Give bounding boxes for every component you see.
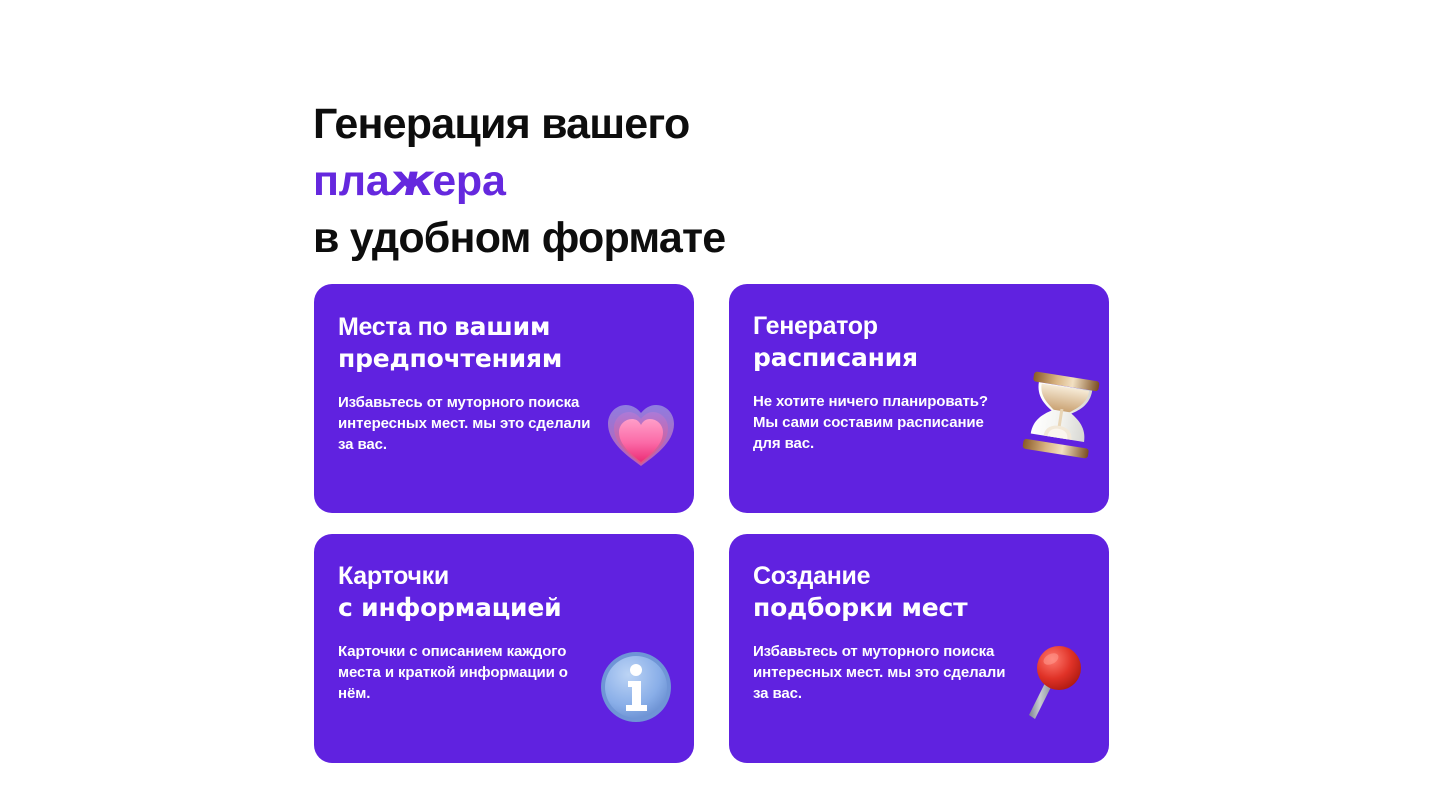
card-title: Создание подборки мест [753,561,1085,623]
card-title-line-1-plain: Места по [338,313,454,341]
card-title-line-1: Создание [753,561,1085,592]
card-title-line-1: Карточки [338,561,670,592]
page-title: Генерация вашего плажера в удобном форма… [313,96,933,267]
card-title-line-2: предпочтениям [338,343,670,374]
headline-accent-part-a: пла [313,157,390,205]
feature-card-collection[interactable]: Создание подборки мест Избавьтесь от мут… [729,534,1109,763]
card-title: Места по вашим предпочтениям [338,311,670,374]
headline-swash-letter: ж [389,153,434,210]
card-body: Карточки с описанием каждого места и кра… [338,641,593,704]
hourglass-icon [1021,369,1101,461]
feature-card-schedule[interactable]: Генератор расписания Не хотите ничего пл… [729,284,1109,513]
card-title-line-1: Места по вашим [338,311,670,343]
round-pushpin-icon [1019,643,1085,727]
feature-card-info-cards[interactable]: Карточки с информацией Карточки с описан… [314,534,694,763]
headline-line-3: в удобном формате [313,210,933,267]
headline-accent-part-b: ера [432,157,506,205]
information-icon [598,649,674,725]
growing-heart-icon [604,395,678,469]
slide-root: Генерация вашего плажера в удобном форма… [0,0,1440,800]
headline-line-1: Генерация вашего [313,96,933,153]
card-title-line-2: расписания [753,342,1085,373]
card-title: Генератор расписания [753,311,1085,373]
card-title: Карточки с информацией [338,561,670,623]
card-body: Избавьтесь от муторного поиска интересны… [753,641,1008,704]
feature-card-grid: Места по вашим предпочтениям Избавьтесь … [314,284,1109,763]
card-title-line-2: с информацией [338,592,670,623]
card-body: Не хотите ничего планировать? Мы сами со… [753,391,1008,454]
feature-card-places[interactable]: Места по вашим предпочтениям Избавьтесь … [314,284,694,513]
card-title-line-1: Генератор [753,311,1085,342]
card-title-line-2: подборки мест [753,592,1085,623]
card-title-line-1-fancy: вашим [454,312,550,341]
headline-line-2: плажера [313,153,933,210]
card-body: Избавьтесь от муторного поиска интересны… [338,392,593,455]
